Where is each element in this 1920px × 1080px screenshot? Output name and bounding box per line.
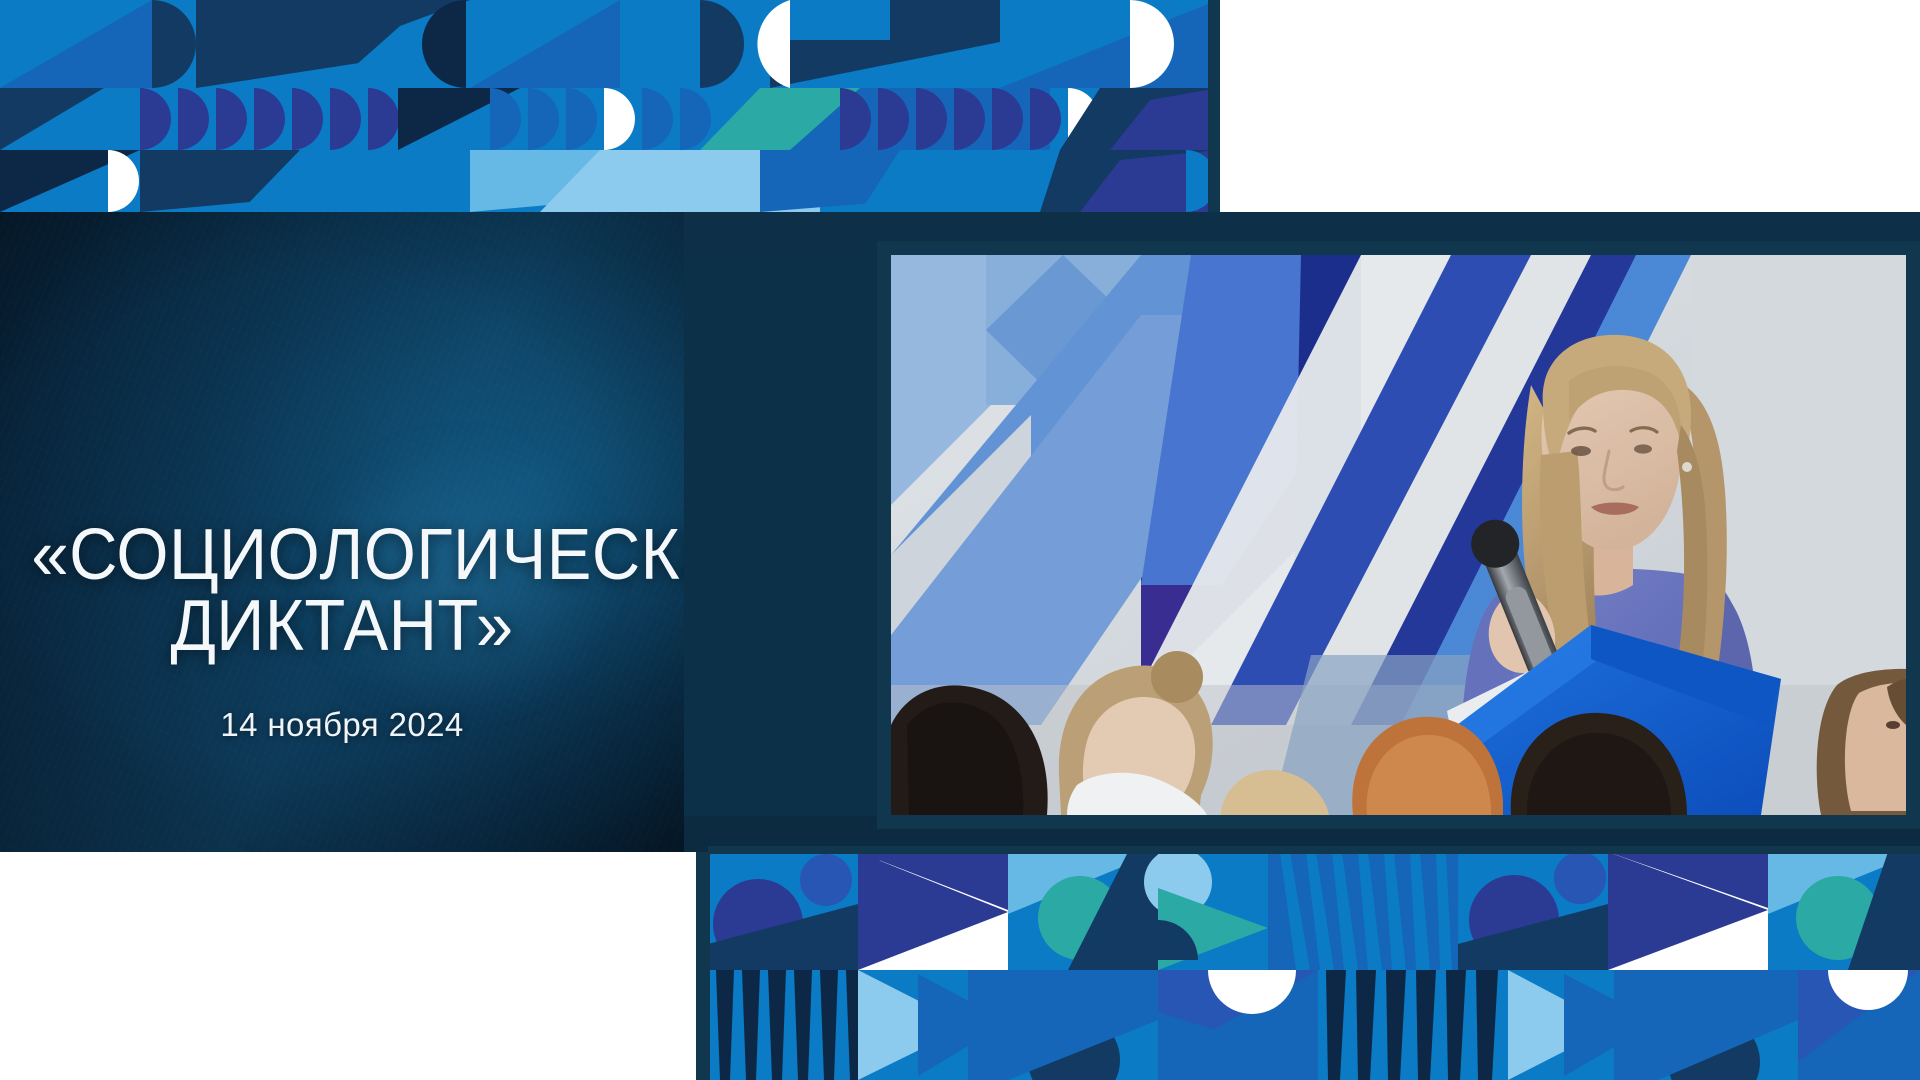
separator-top-vertical: [1208, 0, 1220, 212]
photo-render: [891, 255, 1906, 815]
slide-canvas: Демидовский университет «СОЦИОЛОГИЧЕСКИЙ…: [0, 0, 1920, 1080]
event-title: «СОЦИОЛОГИЧЕСКИЙ ДИКТАНТ»: [31, 520, 652, 661]
white-block-bottom-left: [0, 852, 708, 1080]
white-block-top-right: [1218, 0, 1920, 212]
separator-bottom-horizontal: [708, 846, 1920, 854]
bottom-geometric-pattern: [708, 852, 1920, 1080]
event-date: 14 ноября 2024: [8, 706, 676, 744]
top-geometric-pattern: [0, 0, 1218, 212]
panel-gap-fill: [684, 212, 884, 852]
photo-viewport: [891, 255, 1906, 815]
separator-bottom-vertical: [696, 852, 710, 1080]
top-pattern-svg: [0, 0, 1218, 212]
bottom-pattern-svg: [708, 852, 1920, 1080]
